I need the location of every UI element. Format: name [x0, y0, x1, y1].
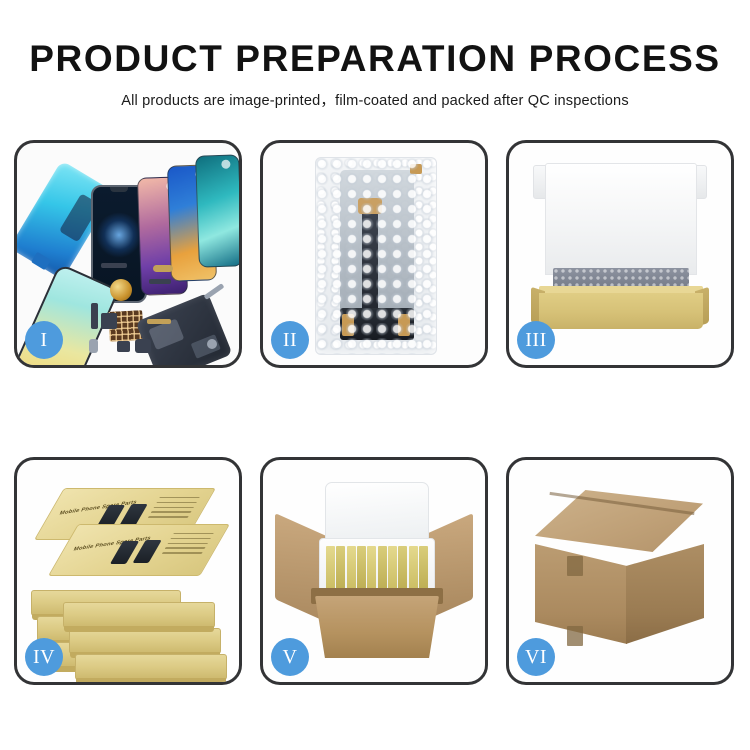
part-strip-icon	[91, 303, 98, 329]
part-flex-icon	[149, 279, 171, 284]
yellow-box-item	[398, 546, 407, 590]
step-badge-4: IV	[25, 638, 63, 676]
flex-cable-icon	[362, 210, 378, 322]
part-small-icon	[117, 341, 130, 352]
gold-tab-right-icon	[398, 314, 410, 336]
stacked-box-item	[63, 602, 215, 628]
foam-lid-icon	[325, 482, 429, 544]
carton-tape-tab-lower-icon	[567, 626, 583, 646]
process-step-1: I	[14, 140, 242, 368]
yellow-box-item	[378, 546, 387, 590]
step-badge-2: II	[271, 321, 309, 359]
carton-top-face	[535, 490, 703, 552]
header: PRODUCT PREPARATION PROCESS All products…	[0, 0, 750, 110]
part-bar-icon	[101, 263, 127, 268]
phone-back-housing-icon	[135, 293, 232, 368]
white-box-lid-icon	[545, 163, 697, 275]
yellow-boxes-row	[326, 546, 428, 590]
part-square-icon	[101, 313, 117, 329]
yellow-box-item	[419, 546, 428, 590]
part-button-icon	[135, 339, 151, 353]
step-badge-1: I	[25, 321, 63, 359]
yellow-box-item	[367, 546, 376, 590]
part-connector-icon	[147, 319, 171, 324]
part-camera-icon	[89, 339, 98, 353]
yellow-box-item	[409, 546, 418, 590]
process-step-4: Mobile Phone Spare Parts Mobile Phone Sp…	[14, 457, 242, 685]
part-screw-icon	[207, 339, 217, 349]
box-lid-printed-front: Mobile Phone Spare Parts	[48, 524, 230, 576]
process-panel-grid: I II	[14, 140, 736, 685]
phone-teal-icon	[195, 154, 242, 267]
box-label-lines	[156, 533, 213, 563]
bubble-wrap-bag-icon	[315, 157, 437, 355]
yellow-box-item	[336, 546, 345, 590]
yellow-box-item	[357, 546, 366, 590]
speaker-coil-icon	[110, 279, 132, 301]
carton-front-icon	[315, 596, 439, 658]
stacked-box-item	[75, 654, 227, 680]
kraft-tray-front-icon	[539, 293, 703, 329]
yellow-box-item	[388, 546, 397, 590]
top-tab-icon	[410, 164, 422, 174]
step-badge-5: V	[271, 638, 309, 676]
yellow-box-item	[326, 546, 335, 590]
carton-side-face	[626, 544, 704, 644]
step-badge-6: VI	[517, 638, 555, 676]
gold-tab-left-icon	[342, 314, 354, 336]
carton-tape-tab-upper-icon	[567, 556, 583, 576]
box-label-lines	[142, 497, 199, 527]
process-step-6: VI	[506, 457, 734, 685]
page-title: PRODUCT PREPARATION PROCESS	[0, 38, 750, 80]
camera-dot-icon	[221, 160, 230, 169]
process-step-2: II	[260, 140, 488, 368]
box-stack: Mobile Phone Spare Parts Mobile Phone Sp…	[27, 478, 235, 670]
page-root: PRODUCT PREPARATION PROCESS All products…	[0, 0, 750, 750]
part-gold-icon	[153, 265, 173, 272]
step-badge-3: III	[517, 321, 555, 359]
page-subtitle: All products are image-printed，film-coat…	[0, 89, 750, 110]
part-tool-icon	[204, 283, 225, 300]
process-step-3: III	[506, 140, 734, 368]
process-step-5: V	[260, 457, 488, 685]
yellow-box-item	[347, 546, 356, 590]
